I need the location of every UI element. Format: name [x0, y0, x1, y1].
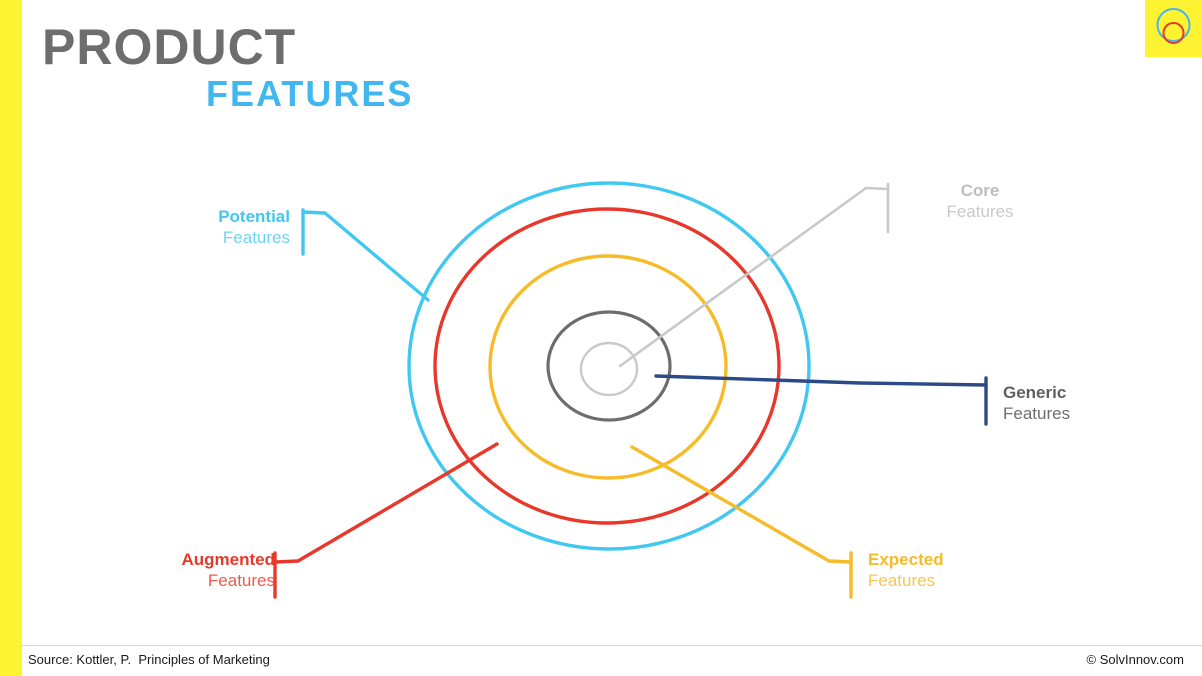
callout-potential-title: Potential [150, 207, 290, 228]
callout-generic-sub: Features [1003, 404, 1163, 425]
footer-source: Source: Kottler, P. Principles of Market… [28, 652, 270, 667]
ring-potential [409, 183, 809, 549]
ring-expected [490, 256, 726, 478]
callout-core-title: Core [905, 181, 1055, 202]
slide-canvas: PRODUCT FEATURES [0, 0, 1202, 676]
ring-core [581, 343, 637, 395]
callout-expected[interactable]: Expected Features [868, 550, 1028, 591]
callout-expected-sub: Features [868, 571, 1028, 592]
callout-generic-title: Generic [1003, 383, 1163, 404]
callout-potential[interactable]: Potential Features [150, 207, 290, 248]
callout-core[interactable]: Core Features [905, 181, 1055, 222]
callout-core-sub: Features [905, 202, 1055, 223]
leader-generic [656, 376, 986, 424]
ring-generic [548, 312, 670, 420]
callout-augmented[interactable]: Augmented Features [130, 550, 275, 591]
footer-copyright[interactable]: © SolvInnov.com [1087, 652, 1185, 667]
callout-generic[interactable]: Generic Features [1003, 383, 1163, 424]
leader-potential [303, 210, 428, 300]
callout-potential-sub: Features [150, 228, 290, 249]
callout-augmented-sub: Features [130, 571, 275, 592]
footer-divider [22, 645, 1202, 646]
leader-augmented [275, 444, 497, 597]
callout-augmented-title: Augmented [130, 550, 275, 571]
leader-expected [632, 447, 851, 597]
callout-expected-title: Expected [868, 550, 1028, 571]
